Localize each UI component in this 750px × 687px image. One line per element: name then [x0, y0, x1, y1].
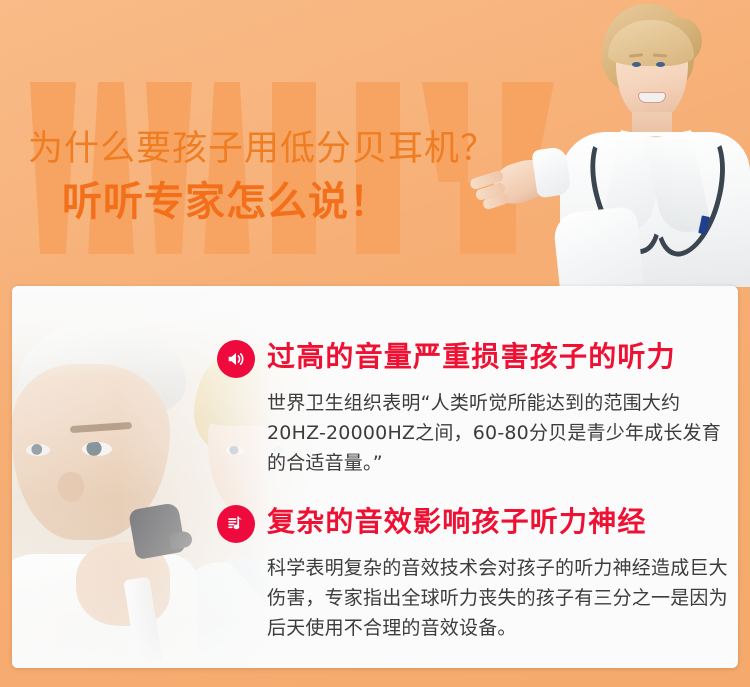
promo-page: 为什么要孩子用低分贝耳机？ 听听专家怎么说！ [0, 0, 750, 687]
doctor-photo [550, 0, 750, 287]
info-block-body: 世界卫生组织表明“人类听觉所能达到的范围大约20HZ-20000HZ之间，60-… [267, 388, 738, 478]
content-card: 过高的音量严重损害孩子的听力 世界卫生组织表明“人类听觉所能达到的范围大约20H… [12, 286, 738, 668]
info-block-volume: 过高的音量严重损害孩子的听力 世界卫生组织表明“人类听觉所能达到的范围大约20H… [217, 340, 737, 478]
info-block-title: 过高的音量严重损害孩子的听力 [267, 337, 676, 377]
info-block-sound-effects: 复杂的音效影响孩子听力神经 科学表明复杂的音效技术会对孩子的听力神经造成巨大伤害… [217, 505, 737, 643]
speaker-volume-icon [217, 340, 255, 378]
hero-banner: 为什么要孩子用低分贝耳机？ 听听专家怎么说！ [0, 0, 750, 287]
hero-title-line1: 为什么要孩子用低分贝耳机？ [28, 128, 496, 170]
info-block-title: 复杂的音效影响孩子听力神经 [267, 502, 647, 542]
info-block-heading: 复杂的音效影响孩子听力神经 [217, 505, 737, 547]
info-block-heading: 过高的音量严重损害孩子的听力 [217, 340, 737, 382]
info-block-body: 科学表明复杂的音效技术会对孩子的听力神经造成巨大伤害，专家指出全球听力丧失的孩子… [267, 553, 738, 643]
music-note-icon [217, 505, 255, 543]
hero-title-line2: 听听专家怎么说！ [62, 178, 390, 226]
